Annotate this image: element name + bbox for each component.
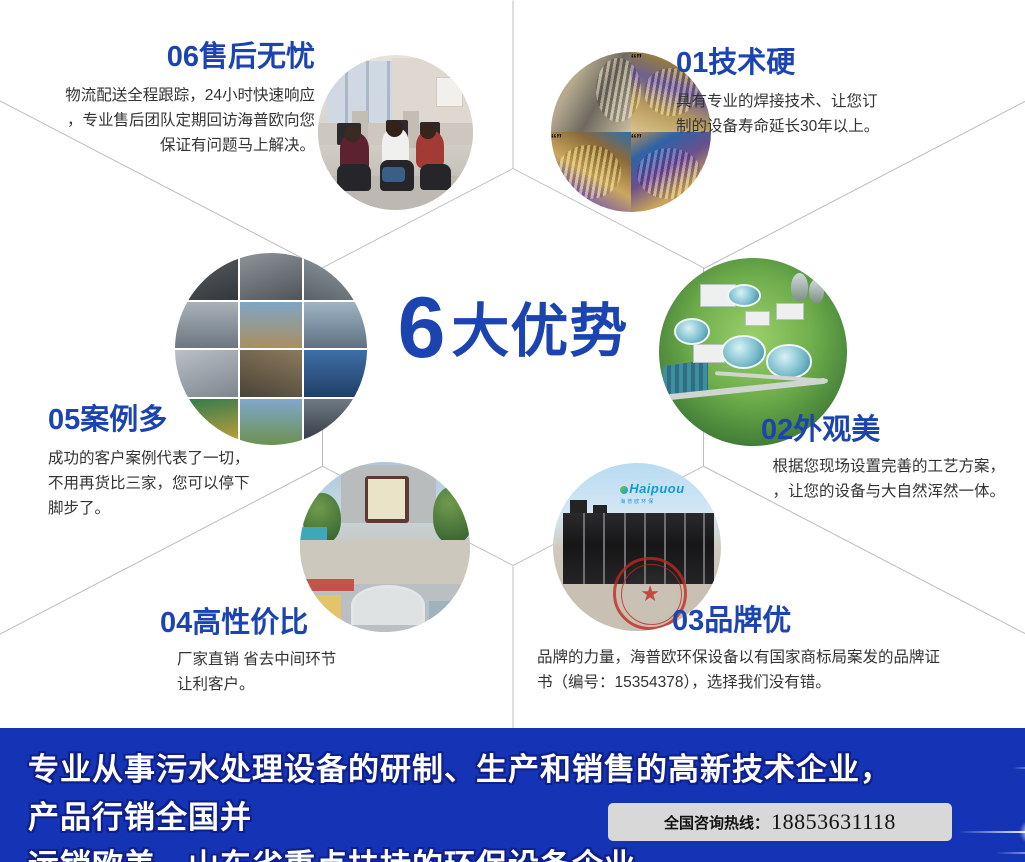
advantage-line: ，让您的设备与大自然浑然一体。 [772,483,1005,500]
advantage-title-02: 02外观美 [650,415,1005,447]
advantage-line: 脚步了。 [48,500,110,517]
advantage-line: 成功的客户案例代表了一切， [48,450,250,467]
advantage-line: 让利客户。 [177,676,255,693]
advantage-line: ，专业售后团队定期回访海普欧向您 [67,112,315,129]
center-number: 6 [398,280,444,376]
advantage-block-02: 02外观美 根据您现场设置完善的工艺方案， ，让您的设备与大自然浑然一体。 [650,415,1005,504]
advantage-line: 保证有问题马上解决。 [160,137,315,154]
advantage-line: 品牌的力量，海普欧环保设备以有国家商标局案发的品牌证 [537,649,940,666]
hex-spoke-top [513,1,514,169]
hotline-badge[interactable]: 全国咨询热线： 18853631118 [608,803,952,841]
advantage-title-06: 06售后无忧 [10,42,315,74]
advantage-block-06: 06售后无忧 物流配送全程跟踪，24小时快速响应 ，专业售后团队定期回访海普欧向… [10,42,315,158]
banner-line-2: 远销欧美，山东省重点扶持的环保设备企业。 [28,842,908,862]
advantage-title-05: 05案例多 [48,405,348,437]
advantage-title-03: 03品牌优 [537,606,1007,638]
sparkle-icon [1000,793,1025,862]
hotline-label: 全国咨询热线： [664,812,769,833]
advantages-infographic: 6大优势 [0,0,1025,862]
advantage-title-04: 04高性价比 [160,608,490,640]
advantage-block-01: 01技术硬 具有专业的焊接技术、让您订 制的设备寿命延长30年以上。 [676,48,1006,139]
advantage-line: 物流配送全程跟踪，24小时快速响应 [65,87,315,104]
sparkle-icon [952,752,1025,862]
advantage-line: 书（编号：15354378），选择我们没有错。 [537,674,831,691]
advantage-block-04: 04高性价比 厂家直销 省去中间环节 让利客户。 [160,608,490,697]
center-label: 6大优势 [322,285,704,371]
advantage-block-05: 05案例多 成功的客户案例代表了一切， 不用再货比三家，您可以停下 脚步了。 [48,405,348,521]
bottom-banner: 专业从事污水处理设备的研制、生产和销售的高新技术企业，产品行销全国并 远销欧美，… [0,728,1025,862]
sparkle-icon [1012,748,1025,788]
hex-spoke-bottom [513,567,514,729]
office-team-photo [318,55,473,210]
advantage-line: 不用再货比三家，您可以停下 [48,475,250,492]
advantage-block-03: 03品牌优 品牌的力量，海普欧环保设备以有国家商标局案发的品牌证 书（编号：15… [537,606,1007,695]
advantage-line: 制的设备寿命延长30年以上。 [676,118,879,135]
advantage-title-01: 01技术硬 [676,48,1006,80]
advantage-line: 根据您现场设置完善的工艺方案， [772,458,1005,475]
advantage-line: 具有专业的焊接技术、让您订 [676,93,878,110]
center-word: 大优势 [451,299,628,364]
advantage-line: 厂家直销 省去中间环节 [177,651,336,668]
hotline-number: 18853631118 [771,809,896,835]
